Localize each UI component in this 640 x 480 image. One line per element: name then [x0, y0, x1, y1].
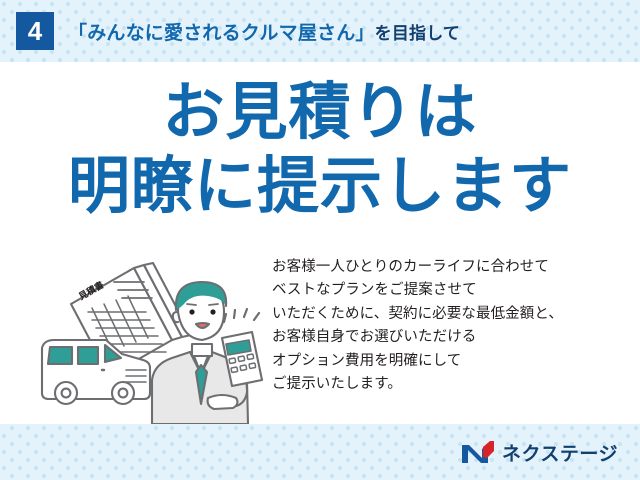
header-title: 「みんなに愛されるクルマ屋さん」を目指して: [68, 18, 460, 45]
page-title: お見積りは 明瞭に提示します: [0, 80, 640, 219]
headline-line-1: お見積りは: [0, 80, 640, 146]
banner-footer: ネクステージ: [0, 424, 640, 480]
promo-banner: 4 「みんなに愛されるクルマ屋さん」を目指して お見積りは 明瞭に提示します お…: [0, 0, 640, 480]
header-title-tail: を目指して: [375, 24, 461, 43]
sparkle-icon: [224, 309, 259, 322]
body-copy: お客様一人ひとりのカーライフに合わせて ベストなプランをご提案させて いただくた…: [272, 256, 622, 397]
section-number-badge: 4: [16, 12, 54, 50]
body-line: ベストなプランをご提案させて: [272, 279, 622, 302]
body-line: オプション費用を明確にして: [272, 350, 622, 373]
illustration-graphic: 見積書: [26, 252, 276, 424]
salesman-illustration: 見積書: [26, 252, 276, 424]
body-line: いただくために、契約に必要な最低金額と、: [272, 303, 622, 326]
headline-line-2: 明瞭に提示します: [0, 154, 640, 220]
body-line: お客様自身でお選びいただける: [272, 326, 622, 349]
banner-header: 4 「みんなに愛されるクルマ屋さん」を目指して: [0, 0, 640, 62]
brand-name: ネクステージ: [502, 439, 618, 466]
header-title-main: 「みんなに愛されるクルマ屋さん」: [68, 23, 375, 44]
n-logo-icon: [461, 440, 495, 464]
brand-logo: ネクステージ: [461, 439, 618, 466]
body-line: ご提示いたします。: [272, 373, 622, 396]
content-card: お見積りは 明瞭に提示します お客様一人ひとりのカーライフに合わせて ベストなプ…: [0, 62, 640, 424]
body-line: お客様一人ひとりのカーライフに合わせて: [272, 256, 622, 279]
